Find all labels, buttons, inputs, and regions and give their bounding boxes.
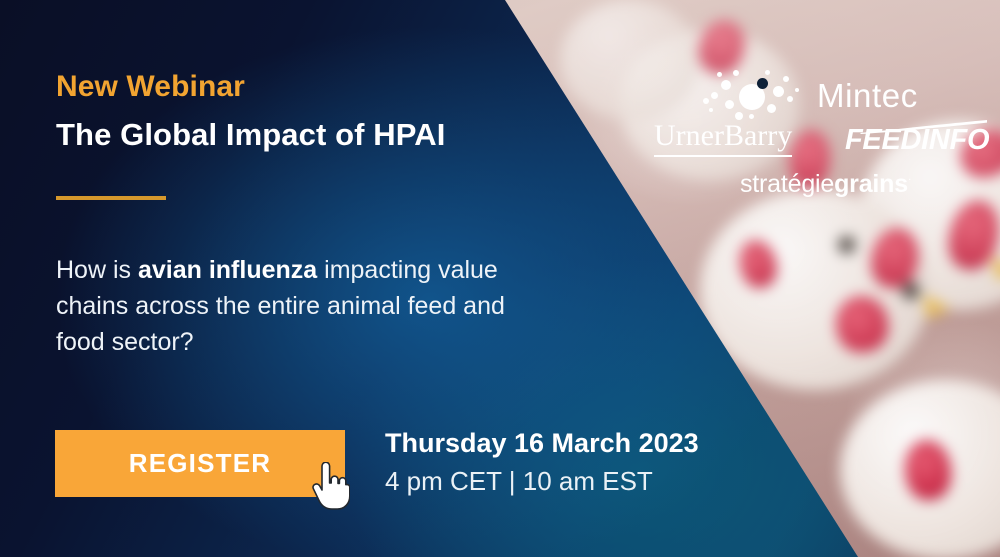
subcopy-text: How is avian influenza impacting value c… [56, 252, 526, 360]
webinar-times: 4 pm CET | 10 am EST [385, 466, 653, 497]
partner-logos: Mintec UrnerBarry FEEDINFO stratégiegrai… [640, 58, 995, 203]
subcopy-emphasis: avian influenza [138, 256, 317, 284]
mintec-wordmark: Mintec [817, 77, 918, 115]
subcopy-lead: How is [56, 256, 138, 284]
register-button[interactable]: REGISTER [55, 430, 345, 497]
strategie-bold-part: grains [834, 170, 908, 198]
orange-divider [56, 196, 166, 200]
strategie-grains-logo: stratégiegrains· [740, 170, 911, 199]
page-title: The Global Impact of HPAI [56, 117, 445, 153]
trademark-mark: · [908, 174, 911, 186]
mintec-dots-icon [695, 68, 807, 124]
strategie-light-part: stratégie [740, 170, 834, 198]
webinar-date: Thursday 16 March 2023 [385, 428, 699, 459]
kicker-text: New Webinar [56, 70, 245, 104]
mintec-logo: Mintec [695, 68, 918, 124]
urner-barry-logo: UrnerBarry [654, 120, 792, 157]
register-button-label: REGISTER [129, 448, 272, 479]
feedinfo-logo: FEEDINFO [845, 124, 989, 157]
webinar-promo-banner: New Webinar The Global Impact of HPAI Ho… [0, 0, 1000, 557]
